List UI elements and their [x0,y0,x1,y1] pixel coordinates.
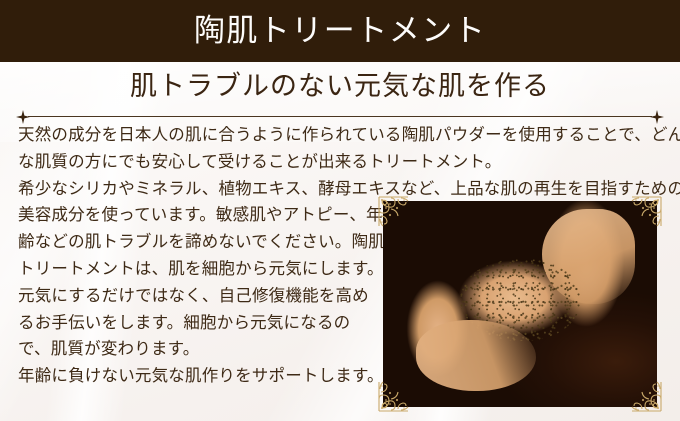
body-line: な肌質の方にでも安心して受けることが出来るトリートメント。 [18,149,666,176]
treatment-photo [383,201,657,407]
header-bar: 陶肌トリートメント [0,0,680,62]
promo-page: 陶肌トリートメント 肌トラブルのない元気な肌を作る 天然の成分を日本人の肌に合う… [0,0,680,421]
page-title: 陶肌トリートメント [0,0,680,62]
body-line: 天然の成分を日本人の肌に合うように作られている陶肌パウダーを使用することで、どん [18,122,666,149]
treatment-photo-frame [378,196,662,412]
photo-hand-highlight [416,320,537,390]
subtitle: 肌トラブルのない元気な肌を作る [0,66,680,106]
divider-rule [28,116,652,117]
